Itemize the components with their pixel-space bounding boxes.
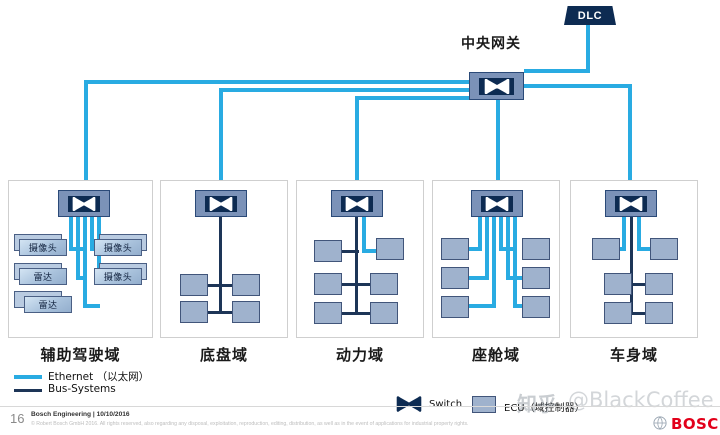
adas-link-2: [76, 217, 80, 279]
switch-icon: [341, 196, 373, 212]
cockpit-ecu-4[interactable]: [522, 267, 550, 289]
powertrain-ecu-6[interactable]: [370, 302, 398, 324]
cockpit-link-2b: [466, 276, 489, 280]
domain-label-body: 车身域: [570, 344, 698, 365]
trunk-to-adas-horizontal: [84, 80, 474, 84]
cockpit-link-4: [499, 217, 503, 250]
body-ecu-5[interactable]: [604, 302, 632, 324]
sensor-label: 雷达: [39, 298, 58, 311]
powertrain-ecu-3[interactable]: [314, 273, 342, 295]
cockpit-link-3b: [466, 304, 496, 308]
switch-icon: [68, 196, 100, 212]
powertrain-domain-switch[interactable]: [331, 190, 383, 217]
legend-label-bus: Bus-Systems: [48, 383, 116, 395]
cockpit-ecu-1[interactable]: [441, 238, 469, 260]
trunk-to-chassis-vertical: [219, 88, 223, 180]
sensor-label: 摄像头: [29, 241, 57, 254]
cockpit-link-2: [485, 217, 489, 279]
chassis-ecu-1[interactable]: [180, 274, 208, 296]
legend-label-switch: Switch: [429, 399, 462, 410]
sensor-label: 摄像头: [104, 270, 132, 283]
cockpit-ecu-3[interactable]: [441, 267, 469, 289]
chassis-domain-switch[interactable]: [195, 190, 247, 217]
adas-sensor-camera-1[interactable]: 摄像头: [19, 239, 67, 256]
footer-divider: [0, 406, 720, 407]
domain-label-chassis: 底盘域: [160, 344, 288, 365]
switch-icon: [481, 196, 513, 212]
chassis-ecu-3[interactable]: [180, 301, 208, 323]
body-ecu-6[interactable]: [645, 302, 673, 324]
switch-icon: [615, 196, 647, 212]
adas-link-1: [69, 217, 73, 250]
cockpit-link-5: [506, 217, 510, 279]
legend-ecu-swatch: [472, 396, 496, 413]
body-eth-left-vertical: [622, 217, 626, 250]
adas-link-4: [90, 217, 94, 250]
adas-link-3: [83, 217, 87, 307]
link-dlc-horizontal: [524, 69, 590, 73]
gateway-label: 中央网关: [461, 33, 521, 53]
body-ecu-3[interactable]: [604, 273, 632, 295]
body-ecu-1[interactable]: [592, 238, 620, 260]
footer-title: Bosch Engineering | 10/10/2016: [31, 411, 130, 418]
adas-sensor-radar-1[interactable]: 雷达: [19, 268, 67, 285]
body-eth-right-vertical: [637, 217, 641, 250]
adas-sensor-camera-2[interactable]: 摄像头: [94, 239, 142, 256]
powertrain-ecu-4[interactable]: [370, 273, 398, 295]
cockpit-ecu-2[interactable]: [522, 238, 550, 260]
dlc-label: DLC: [578, 10, 602, 22]
trunk-to-cockpit-vertical: [496, 100, 500, 180]
adas-domain-switch[interactable]: [58, 190, 110, 217]
trunk-to-body-vertical: [628, 84, 632, 180]
powertrain-ecu-1[interactable]: [314, 240, 342, 262]
cockpit-link-6: [513, 217, 517, 307]
chassis-bus-spine: [219, 217, 222, 312]
body-bus-spine: [630, 217, 633, 312]
trunk-to-body-horizontal: [524, 84, 632, 88]
cockpit-link-1: [478, 217, 482, 250]
watermark-en: @BlackCoffee: [568, 388, 714, 412]
central-gateway-switch[interactable]: [469, 72, 524, 100]
powertrain-ecu-5[interactable]: [314, 302, 342, 324]
switch-icon: [479, 78, 514, 95]
bosch-wordmark: BOSCH: [671, 415, 720, 433]
trunk-to-powertrain-horizontal: [355, 96, 474, 100]
switch-icon: [205, 196, 237, 212]
body-ecu-4[interactable]: [645, 273, 673, 295]
legend-label-ethernet: Ethernet （以太网）: [48, 369, 149, 384]
cockpit-ecu-5[interactable]: [441, 296, 469, 318]
body-ecu-2[interactable]: [650, 238, 678, 260]
legend-switch-icon-wrap: [396, 396, 422, 412]
powertrain-eth-vertical: [362, 217, 366, 253]
diagram-canvas: DLC 中央网关: [0, 0, 720, 434]
chassis-ecu-2[interactable]: [232, 274, 260, 296]
page-number: 16: [10, 411, 24, 426]
link-dlc-vertical: [586, 25, 590, 72]
legend-swatch-bus: [14, 389, 42, 392]
adas-sensor-radar-2[interactable]: 雷达: [24, 296, 72, 313]
domain-label-powertrain: 动力域: [296, 344, 424, 365]
cockpit-link-3: [492, 217, 496, 307]
powertrain-bus-spine: [355, 217, 358, 312]
sensor-label: 雷达: [34, 270, 53, 283]
bosch-logo-icon: [653, 416, 667, 435]
switch-icon: [396, 396, 422, 412]
footer-copyright: © Robert Bosch GmbH 2016. All rights res…: [31, 421, 469, 427]
chassis-ecu-4[interactable]: [232, 301, 260, 323]
adas-link-3b: [83, 304, 100, 308]
trunk-to-adas-vertical: [84, 80, 88, 180]
trunk-to-powertrain-vertical: [355, 96, 359, 180]
dlc-node[interactable]: DLC: [564, 6, 616, 25]
sensor-label: 摄像头: [104, 241, 132, 254]
domain-label-cockpit: 座舱域: [432, 344, 560, 365]
legend-swatch-ethernet: [14, 375, 42, 379]
powertrain-ecu-2[interactable]: [376, 238, 404, 260]
trunk-to-chassis-horizontal: [219, 88, 474, 92]
adas-sensor-camera-3[interactable]: 摄像头: [94, 268, 142, 285]
body-domain-switch[interactable]: [605, 190, 657, 217]
cockpit-ecu-6[interactable]: [522, 296, 550, 318]
cockpit-domain-switch[interactable]: [471, 190, 523, 217]
domain-label-adas: 辅助驾驶域: [8, 344, 153, 365]
